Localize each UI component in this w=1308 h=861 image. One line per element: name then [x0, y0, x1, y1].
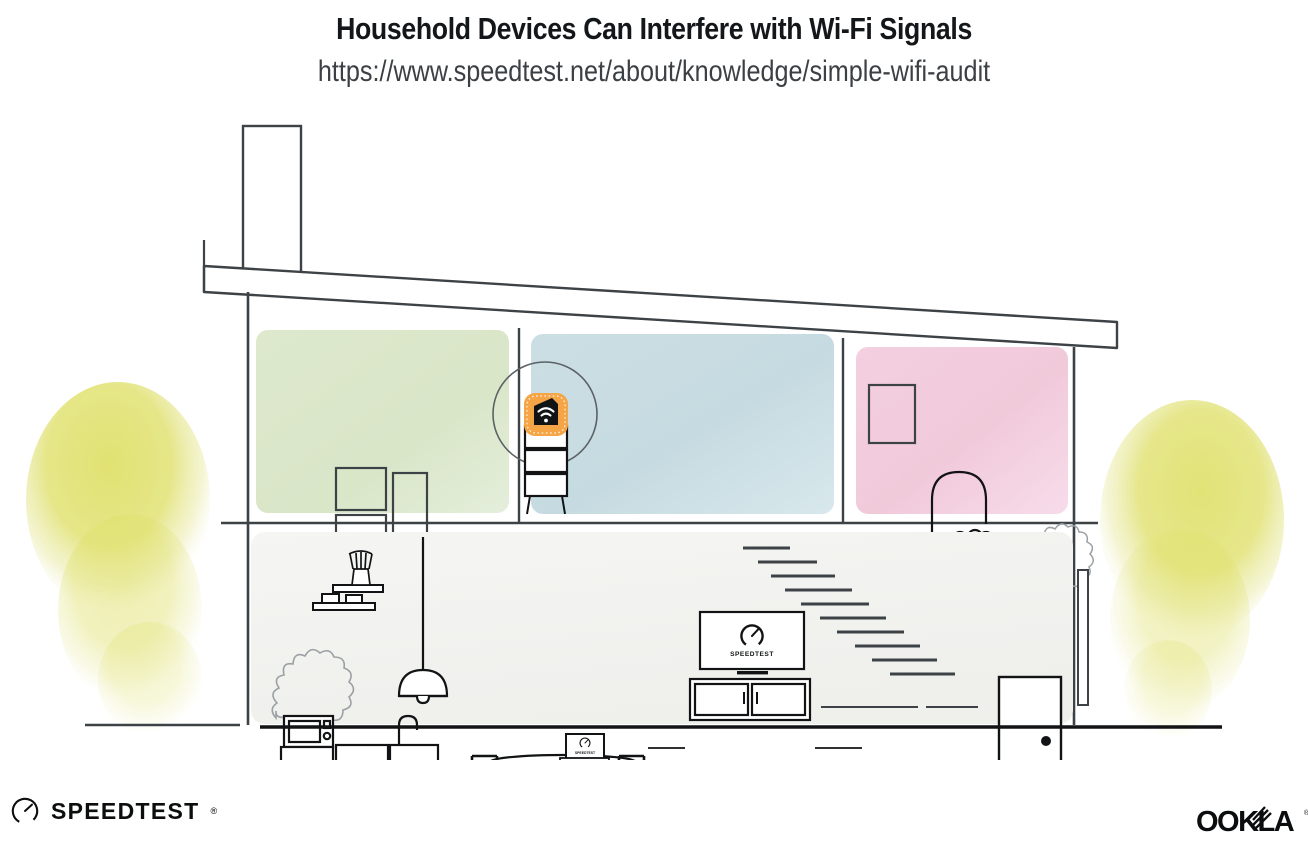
front-door[interactable] [999, 677, 1061, 760]
ookla-trademark: ® [1304, 809, 1308, 817]
speedtest-trademark: ® [210, 806, 217, 816]
speedtest-wordmark: SPEEDTEST [51, 798, 199, 825]
kitchen-cabinets [281, 745, 438, 760]
speedtest-logo: SPEEDTEST ® [10, 796, 217, 826]
ookla-logo: OOKLA ® [1196, 802, 1308, 847]
shelf-upper [333, 585, 383, 592]
ookla-wordmark: OOKLA ® [1196, 802, 1308, 842]
laptop-screen-label: SPEEDTEST [575, 751, 596, 755]
wifi-router[interactable] [524, 393, 568, 436]
header: Household Devices Can Interfere with Wi-… [0, 0, 1308, 90]
ookla-text: OOKLA [1196, 806, 1295, 838]
television[interactable]: SPEEDTEST [700, 612, 804, 674]
laptop[interactable]: SPEEDTEST [560, 734, 609, 760]
media-console [690, 679, 810, 720]
door-knob[interactable] [1041, 736, 1051, 746]
foliage-right [1100, 400, 1284, 740]
window [1078, 570, 1088, 705]
speedtest-gauge-icon [10, 796, 40, 826]
page-root: Household Devices Can Interfere with Wi-… [0, 0, 1308, 861]
footer: SPEEDTEST ® OOKLA ® [0, 780, 1308, 860]
chimney [243, 126, 301, 274]
page-title: Household Devices Can Interfere with Wi-… [92, 10, 1217, 48]
foliage-left [26, 382, 210, 738]
ground-line [85, 725, 1222, 727]
source-url: https://www.speedtest.net/about/knowledg… [105, 54, 1204, 91]
house-cutaway-illustration: SPEEDTEST [0, 100, 1308, 760]
tv-screen-label: SPEEDTEST [730, 651, 774, 658]
microwave[interactable] [284, 716, 333, 747]
